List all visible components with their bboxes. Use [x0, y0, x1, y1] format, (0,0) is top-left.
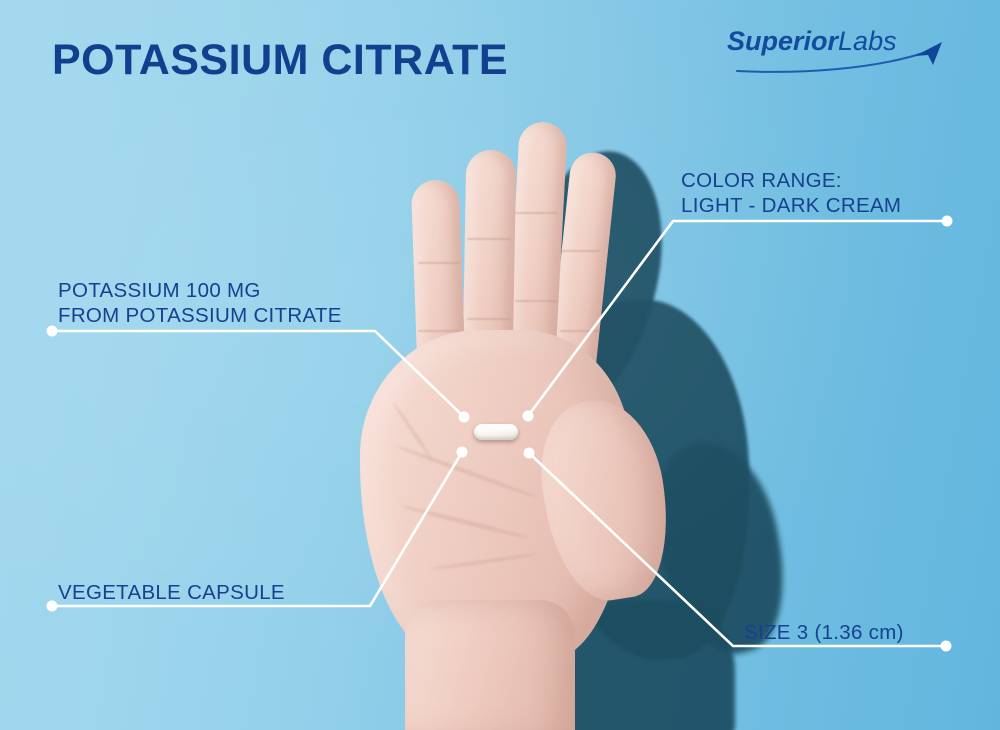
- page-title: POTASSIUM CITRATE: [52, 36, 508, 85]
- knuckle-crease: [467, 238, 511, 240]
- knuckle-crease: [418, 330, 460, 332]
- callout-potassium-dosage-line1: POTASSIUM 100 MG: [58, 278, 342, 303]
- knuckle-crease: [467, 318, 511, 320]
- callout-color-range-line2: LIGHT - DARK CREAM: [681, 193, 901, 218]
- knuckle-crease: [418, 262, 460, 264]
- callout-potassium-dosage: POTASSIUM 100 MG FROM POTASSIUM CITRATE: [58, 278, 342, 328]
- knuckle-crease: [515, 212, 557, 214]
- upward-arrow-icon: [727, 26, 972, 82]
- callout-vegetable-capsule-line1: VEGETABLE CAPSULE: [58, 580, 285, 605]
- knuckle-crease: [560, 250, 600, 252]
- capsule-pill: [474, 424, 518, 440]
- knuckle-crease: [560, 330, 600, 332]
- callout-color-range: COLOR RANGE: LIGHT - DARK CREAM: [681, 168, 901, 218]
- callout-potassium-dosage-line2: FROM POTASSIUM CITRATE: [58, 303, 342, 328]
- knuckle-crease: [515, 300, 557, 302]
- callout-capsule-size-line1: SIZE 3 (1.36 cm): [744, 620, 904, 645]
- callout-capsule-size: SIZE 3 (1.36 cm): [744, 620, 904, 645]
- wrist: [405, 600, 575, 730]
- callout-color-range-line1: COLOR RANGE:: [681, 168, 901, 193]
- callout-vegetable-capsule: VEGETABLE CAPSULE: [58, 580, 285, 605]
- brand-logo[interactable]: SuperiorLabs: [727, 26, 972, 82]
- infographic-canvas: POTASSIUM CITRATE SuperiorLabs POTASSIUM…: [0, 0, 1000, 730]
